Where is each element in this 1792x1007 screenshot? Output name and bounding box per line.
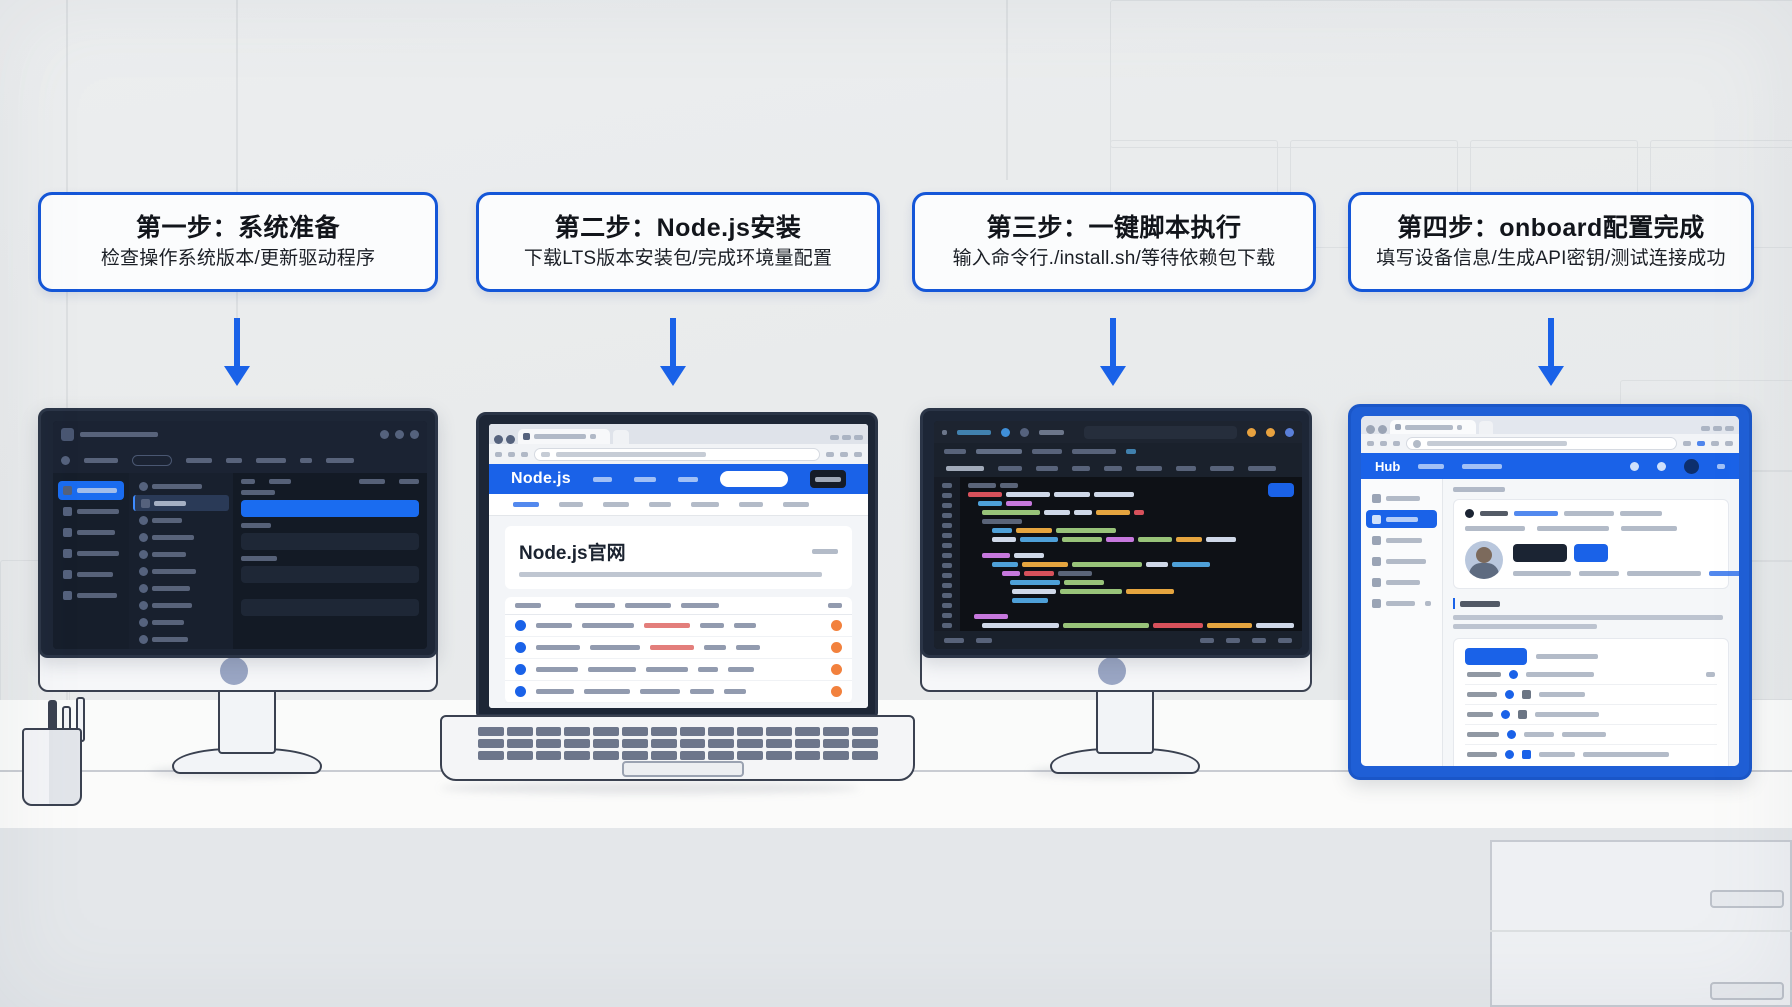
dashboard-sidebar[interactable] xyxy=(1361,479,1443,766)
detail-field-2[interactable] xyxy=(241,599,419,616)
site-content: Node.js官网 xyxy=(489,516,868,708)
browser-menu-icon[interactable] xyxy=(1366,425,1375,434)
sidebar-item-3[interactable] xyxy=(58,544,124,563)
monitor1-bezel xyxy=(38,408,438,658)
settings-tree[interactable] xyxy=(129,473,233,649)
form-row[interactable] xyxy=(1465,665,1717,685)
monitor1-power-dot xyxy=(220,657,248,685)
site-subnav[interactable] xyxy=(489,494,868,516)
subnav-item-6[interactable] xyxy=(783,502,809,507)
config-card xyxy=(1453,638,1729,766)
detail-section-label-0 xyxy=(241,490,275,495)
step-title: 第一步：系统准备 xyxy=(136,213,340,244)
settings-toolbar[interactable] xyxy=(53,447,427,473)
pen-holder xyxy=(22,728,82,806)
step-subtitle: 填写设备信息/生成API密钥/测试连接成功 xyxy=(1376,247,1725,272)
sidebar-item-4[interactable] xyxy=(58,565,124,584)
browser-url-input[interactable] xyxy=(1406,437,1677,450)
step-title: 第四步：onboard配置完成 xyxy=(1397,213,1705,244)
monitor4-screen[interactable]: Hub xyxy=(1361,416,1739,766)
hero-section: Node.js官网 xyxy=(505,526,852,589)
editor-tabs[interactable] xyxy=(934,459,1302,477)
tree-item-6[interactable] xyxy=(133,580,229,596)
table-row[interactable] xyxy=(505,615,852,637)
tree-item-4[interactable] xyxy=(133,546,229,562)
tree-item-root[interactable] xyxy=(133,478,229,494)
drawer-handle-top[interactable] xyxy=(1710,890,1784,908)
monitor3-power-dot xyxy=(1098,657,1126,685)
hero-version-badge xyxy=(812,549,838,554)
sidebar-item-2[interactable] xyxy=(58,523,124,542)
config-tab-active[interactable] xyxy=(1465,648,1527,665)
editor-breadcrumb[interactable] xyxy=(934,443,1302,459)
editor-statusbar[interactable] xyxy=(934,631,1302,649)
nav-item-0[interactable] xyxy=(593,477,612,482)
avatar xyxy=(1465,541,1503,579)
editor-tab-6[interactable] xyxy=(1176,466,1196,471)
hero-heading: Node.js官网 xyxy=(519,538,626,565)
editor-avatar-2[interactable] xyxy=(1266,428,1275,437)
tree-item-8[interactable] xyxy=(133,614,229,630)
step-card-3[interactable]: 第三步：一键脚本执行 输入命令行./install.sh/等待依赖包下载 xyxy=(912,192,1316,292)
monitor1-screen[interactable] xyxy=(53,421,427,649)
down-arrow-icon xyxy=(1100,318,1126,388)
app-icon xyxy=(61,428,74,441)
profile-link-1[interactable] xyxy=(1537,526,1609,531)
editor-source-control-icon[interactable] xyxy=(1001,428,1010,437)
detail-highlight-row[interactable] xyxy=(241,500,419,517)
monitor3-neck xyxy=(1096,684,1154,754)
monitor1-neck xyxy=(218,684,276,754)
dashboard-header[interactable]: Hub xyxy=(1361,453,1739,479)
form-row[interactable] xyxy=(1465,745,1717,764)
step-title: 第二步：Node.js安装 xyxy=(555,213,802,244)
hero-subtext xyxy=(519,572,822,577)
nodejs-logo: Node.js xyxy=(511,470,571,488)
settings-titlebar xyxy=(53,421,427,447)
editor-tab-0[interactable] xyxy=(946,466,984,471)
settings-sidebar[interactable] xyxy=(53,473,129,649)
tree-item-selected[interactable] xyxy=(133,495,229,511)
browser-urlbar[interactable] xyxy=(489,444,868,464)
breadcrumb[interactable] xyxy=(1453,487,1505,492)
drawer-divider xyxy=(1490,930,1792,932)
browser-url-input[interactable] xyxy=(534,448,820,461)
step-subtitle: 下载LTS版本安装包/完成环境量配置 xyxy=(524,247,832,272)
step-card-2[interactable]: 第二步：Node.js安装 下载LTS版本安装包/完成环境量配置 xyxy=(476,192,880,292)
window-maximize-icon[interactable] xyxy=(395,430,404,439)
editor-avatar-3[interactable] xyxy=(1285,428,1294,437)
edit-icon[interactable] xyxy=(1706,672,1715,677)
laptop-keyboard[interactable] xyxy=(478,727,878,760)
section-paragraph-1 xyxy=(1453,624,1597,629)
down-arrow-icon xyxy=(660,318,686,388)
tree-item-2[interactable] xyxy=(133,512,229,528)
editor-tab-2[interactable] xyxy=(1036,466,1058,471)
step-card-4[interactable]: 第四步：onboard配置完成 填写设备信息/生成API密钥/测试连接成功 xyxy=(1348,192,1754,292)
laptop-shadow xyxy=(440,782,860,794)
table-row[interactable] xyxy=(505,681,852,703)
dashboard-brand: Hub xyxy=(1375,459,1400,474)
wall-whiteboard xyxy=(1110,0,1792,148)
browser-new-tab[interactable] xyxy=(613,430,629,444)
editor-titlebar[interactable] xyxy=(934,421,1302,443)
browser-tab-0[interactable] xyxy=(518,429,610,444)
subnav-item-5[interactable] xyxy=(739,502,763,507)
editor-tab-4[interactable] xyxy=(1104,466,1122,471)
profile-card xyxy=(1453,499,1729,589)
subnav-item-0[interactable] xyxy=(513,502,539,507)
tree-item-3[interactable] xyxy=(133,529,229,545)
repo-icon xyxy=(1465,509,1474,518)
laptop-screen[interactable]: Node.js xyxy=(489,424,868,708)
table-row[interactable] xyxy=(505,659,852,681)
secondary-action-button[interactable] xyxy=(1574,544,1608,562)
header-nav-0[interactable] xyxy=(1418,464,1444,469)
laptop-trackpad[interactable] xyxy=(622,761,744,777)
editor-line-numbers xyxy=(934,477,960,631)
editor-debug-icon[interactable] xyxy=(1020,428,1029,437)
editor-tab-5[interactable] xyxy=(1136,466,1162,471)
tree-item-9[interactable] xyxy=(133,631,229,647)
editor-tab-1[interactable] xyxy=(998,466,1022,471)
browser-tab-0[interactable] xyxy=(1390,420,1476,434)
form-row[interactable] xyxy=(1465,705,1717,725)
account-icon[interactable] xyxy=(61,456,70,465)
office-scene: Node.js xyxy=(0,0,1792,1007)
tree-item-7[interactable] xyxy=(133,597,229,613)
laptop-base xyxy=(440,715,915,781)
wall-trim-vert2 xyxy=(1006,0,1008,180)
settings-detail-pane[interactable] xyxy=(233,473,427,649)
editor-copilot-button[interactable] xyxy=(1268,483,1294,497)
sidebar-item-5[interactable] xyxy=(1366,594,1437,612)
site-navbar[interactable]: Node.js xyxy=(489,464,868,494)
sidebar-item-4[interactable] xyxy=(1366,573,1437,591)
download-cta-button[interactable] xyxy=(810,470,846,488)
primary-action-button[interactable] xyxy=(1513,544,1567,562)
subnav-item-2[interactable] xyxy=(603,502,629,507)
sidebar-item-2[interactable] xyxy=(1366,531,1437,549)
table-row[interactable] xyxy=(505,637,852,659)
window-close-icon[interactable] xyxy=(410,430,419,439)
form-row[interactable] xyxy=(1465,685,1717,705)
step-card-1[interactable]: 第一步：系统准备 检查操作系统版本/更新驱动程序 xyxy=(38,192,438,292)
sidebar-item-3[interactable] xyxy=(1366,552,1437,570)
dashboard-main xyxy=(1443,479,1739,766)
browser-tabbar[interactable] xyxy=(489,424,868,444)
form-row[interactable] xyxy=(1465,725,1717,745)
sidebar-item-5[interactable] xyxy=(58,586,124,605)
detail-section-label-2 xyxy=(241,556,277,561)
monitor3-screen[interactable] xyxy=(934,421,1302,649)
drawer-handle-bottom[interactable] xyxy=(1710,982,1784,1000)
browser-history-icon[interactable] xyxy=(1378,425,1387,434)
browser-menu-icon[interactable] xyxy=(494,435,503,444)
nav-item-2[interactable] xyxy=(678,477,698,482)
step-subtitle: 检查操作系统版本/更新驱动程序 xyxy=(101,247,375,272)
browser-back-icon[interactable] xyxy=(506,435,515,444)
detail-field-0[interactable] xyxy=(241,533,419,550)
section-paragraph-0 xyxy=(1453,615,1723,620)
monitor4-bezel: Hub xyxy=(1348,404,1752,780)
editor-tab-7[interactable] xyxy=(1210,466,1234,471)
editor-avatar-1[interactable] xyxy=(1247,428,1256,437)
window-minimize-icon[interactable] xyxy=(380,430,389,439)
notifications-icon[interactable] xyxy=(1657,462,1666,471)
sidebar-item-0[interactable] xyxy=(1366,489,1437,507)
header-menu-icon[interactable] xyxy=(1717,464,1725,469)
browser-urlbar[interactable] xyxy=(1361,434,1739,453)
subnav-item-4[interactable] xyxy=(691,502,719,507)
sidebar-item-0[interactable] xyxy=(58,481,124,500)
section-heading xyxy=(1460,601,1500,607)
subnav-item-3[interactable] xyxy=(649,502,671,507)
editor-command-palette[interactable] xyxy=(1084,426,1237,439)
profile-link-2[interactable] xyxy=(1621,526,1677,531)
sidebar-item-1[interactable] xyxy=(1366,510,1437,528)
downloads-table[interactable] xyxy=(505,597,852,703)
profile-link-0[interactable] xyxy=(1465,526,1525,531)
subnav-item-1[interactable] xyxy=(559,502,583,507)
editor-code-area[interactable] xyxy=(960,477,1302,631)
sidebar-item-1[interactable] xyxy=(58,502,124,521)
down-arrow-icon xyxy=(224,318,250,388)
theme-toggle-icon[interactable] xyxy=(1630,462,1639,471)
step-title: 第三步：一键脚本执行 xyxy=(986,213,1241,244)
detail-field-1[interactable] xyxy=(241,566,419,583)
step-subtitle: 输入命令行./install.sh/等待依赖包下载 xyxy=(953,247,1276,272)
site-search-input[interactable] xyxy=(720,471,788,487)
editor-tab-3[interactable] xyxy=(1072,466,1090,471)
table-header-row xyxy=(505,597,852,615)
detail-section-label-1 xyxy=(241,523,271,528)
down-arrow-icon xyxy=(1538,318,1564,388)
nav-item-1[interactable] xyxy=(634,477,656,482)
header-avatar[interactable] xyxy=(1684,459,1699,474)
laptop-lid: Node.js xyxy=(476,412,878,717)
tree-item-5[interactable] xyxy=(133,563,229,579)
editor-tab-8[interactable] xyxy=(1248,466,1276,471)
header-nav-1[interactable] xyxy=(1462,464,1502,469)
browser-new-tab[interactable] xyxy=(1479,421,1493,434)
config-tab-inactive[interactable] xyxy=(1536,654,1598,659)
monitor3-bezel xyxy=(920,408,1312,658)
browser-tabbar[interactable] xyxy=(1361,416,1739,434)
